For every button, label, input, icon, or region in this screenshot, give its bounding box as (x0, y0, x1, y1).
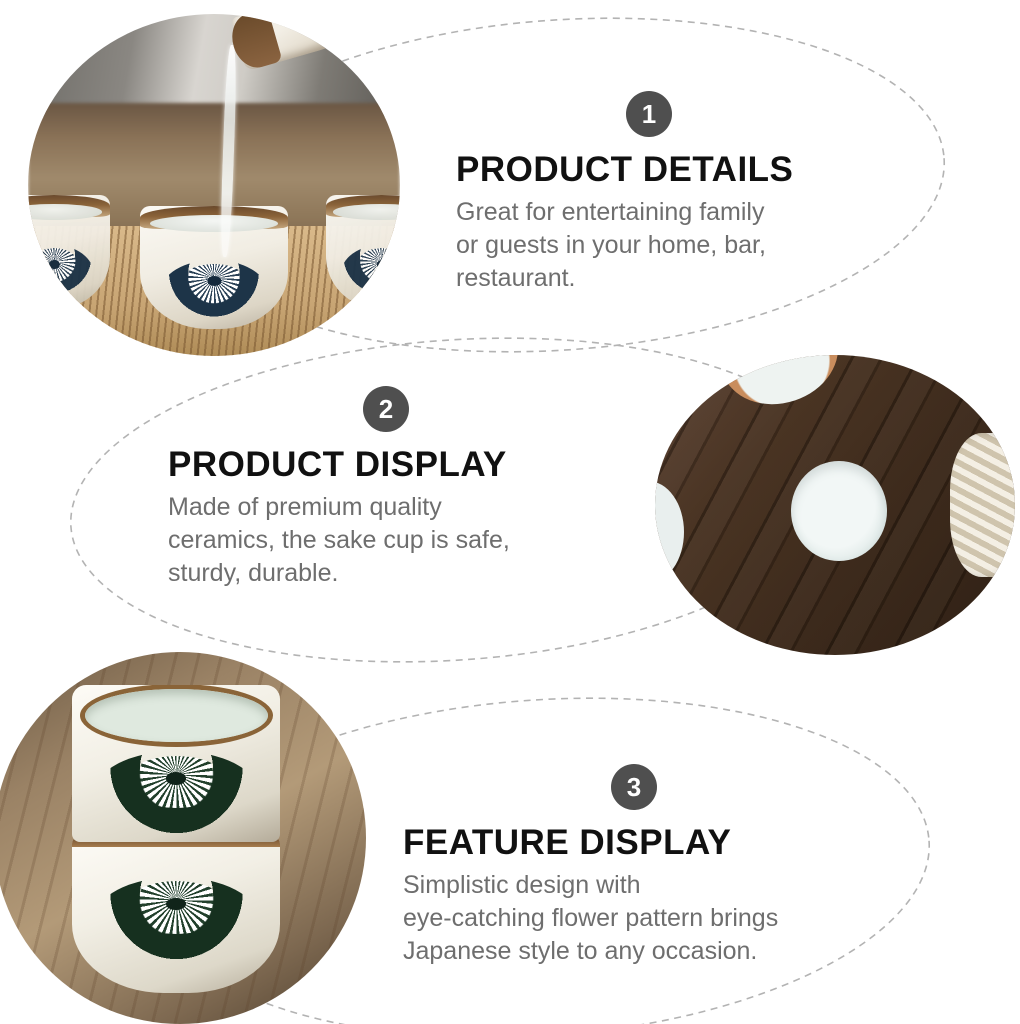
product-photo-stacked (0, 652, 366, 1024)
section-body-1: Great for entertaining family or guests … (456, 196, 886, 295)
section-body-3: Simplistic design with eye-catching flow… (403, 869, 903, 968)
section-heading-1: PRODUCT DETAILS (456, 151, 886, 190)
flower-pattern (28, 245, 94, 304)
flower-pattern (341, 245, 400, 304)
step-badge-2: 2 (363, 386, 409, 432)
cup-mouth (85, 689, 268, 742)
flower-pattern (93, 877, 260, 965)
photo-3-scene (0, 652, 366, 1024)
step-badge-1: 1 (626, 91, 672, 137)
sake-cup-main (774, 445, 904, 577)
cup-rim (326, 195, 400, 216)
sake-cup-upper (72, 685, 280, 842)
section-feature-display: 3 FEATURE DISPLAY Simplistic design with… (403, 764, 903, 968)
sake-cup-center (140, 206, 289, 329)
section-heading-3: FEATURE DISPLAY (403, 824, 903, 863)
infographic-page: 1 PRODUCT DETAILS Great for entertaining… (0, 0, 1020, 1024)
cup-interior (791, 461, 887, 561)
product-photo-pouring (28, 14, 400, 356)
section-product-display: 2 PRODUCT DISPLAY Made of premium qualit… (168, 386, 598, 590)
step-badge-3: 3 (611, 764, 657, 810)
white-rope (950, 433, 1015, 577)
stacked-cups (72, 685, 280, 986)
flower-pattern (160, 260, 267, 324)
flower-pattern (93, 751, 260, 839)
section-body-2: Made of premium quality ceramics, the sa… (168, 491, 598, 590)
cup-rim (140, 206, 289, 229)
section-product-details: 1 PRODUCT DETAILS Great for entertaining… (456, 91, 886, 295)
sake-cup-lower (72, 836, 280, 993)
cup-rim (28, 195, 110, 216)
product-photo-topdown (655, 355, 1015, 655)
photo-2-scene (655, 355, 1015, 655)
section-heading-2: PRODUCT DISPLAY (168, 446, 598, 485)
photo-1-scene (28, 14, 400, 356)
